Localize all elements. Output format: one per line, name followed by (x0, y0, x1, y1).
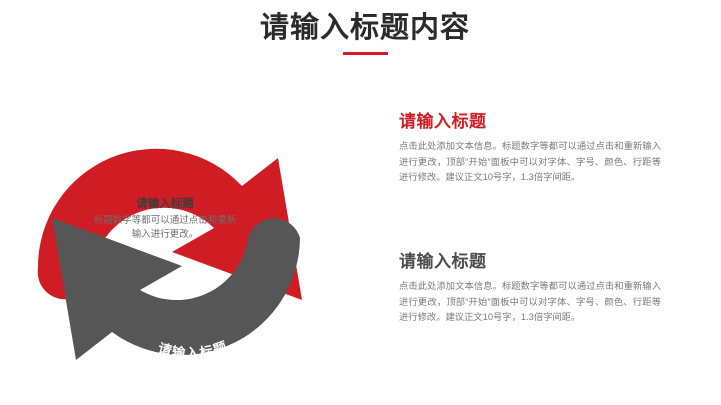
cycle-center-body-line-2: 输入进行更改。 (82, 228, 248, 242)
content-block-2-heading: 请输入标题 (399, 250, 661, 274)
content-block-1-heading: 请输入标题 (399, 110, 661, 134)
page-title: 请输入标题内容 (240, 8, 490, 48)
content-block-2: 请输入标题 点击此处添加文本信息。标题数字等都可以通过点击和重新输入进行更改，顶… (399, 250, 661, 326)
cycle-center-body-line-1: 标题数字等都可以通过点击和重新 (82, 214, 248, 228)
cycle-center-title: 请输入标题 (82, 196, 248, 213)
title-underline-accent (343, 52, 388, 55)
slide-canvas: 请输入标题内容 请输入标题 请输入标题 (0, 0, 721, 405)
content-block-1: 请输入标题 点击此处添加文本信息。标题数字等都可以通过点击和重新输入进行更改，顶… (399, 110, 661, 186)
content-block-2-body: 点击此处添加文本信息。标题数字等都可以通过点击和重新输入进行更改，顶部“开始”面… (399, 279, 661, 326)
page-title-block: 请输入标题内容 (240, 8, 490, 55)
cycle-center-caption: 请输入标题 标题数字等都可以通过点击和重新 输入进行更改。 (82, 196, 248, 242)
red-arc-label: 请输入标题 (125, 109, 203, 139)
content-block-1-body: 点击此处添加文本信息。标题数字等都可以通过点击和重新输入进行更改，顶部“开始”面… (399, 139, 661, 186)
cycle-center-body: 标题数字等都可以通过点击和重新 输入进行更改。 (82, 214, 248, 242)
